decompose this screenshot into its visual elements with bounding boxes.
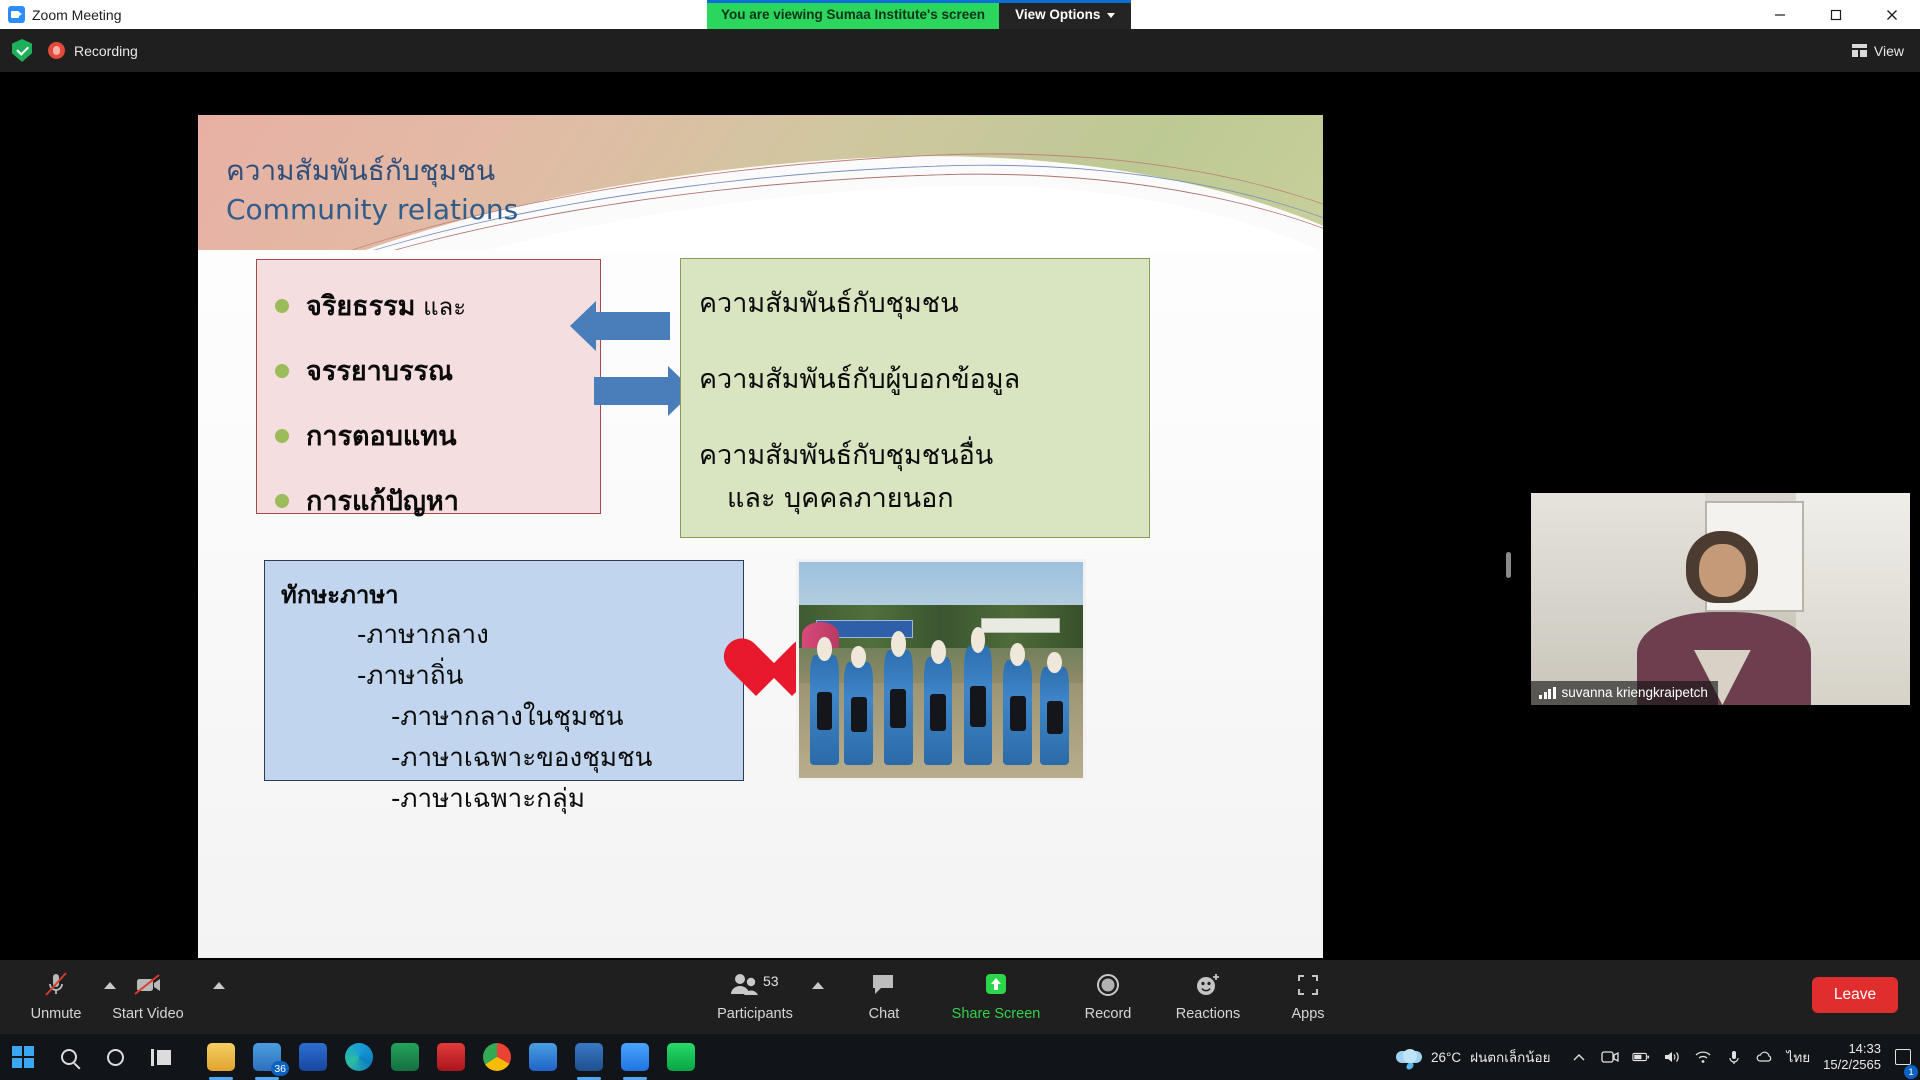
participant-video-thumbnail[interactable]: suvanna kriengkraipetch (1531, 493, 1910, 705)
bullet-label-2: จรรยาบรรณ (306, 349, 453, 392)
language-skills-heading: ทักษะภาษา (281, 575, 743, 614)
heart-icon (722, 640, 792, 704)
line-app-icon[interactable] (666, 1042, 696, 1072)
photo-figure (924, 657, 952, 765)
weather-temperature: 26°C (1431, 1050, 1461, 1065)
apps-label: Apps (1291, 1006, 1324, 1022)
green-line-2: ความสัมพันธ์กับผู้บอกข้อมูล (699, 357, 1149, 400)
mute-button-label: Unmute (31, 1006, 82, 1022)
language-line-4: -ภาษาเฉพาะของชุมชน (281, 737, 743, 778)
zoom-app-icon[interactable] (620, 1042, 650, 1072)
wifi-icon[interactable] (1694, 1048, 1712, 1066)
blue-app-icon[interactable] (298, 1042, 328, 1072)
microphone-tray-icon[interactable] (1725, 1048, 1743, 1066)
keyboard-language-indicator[interactable]: ไทย (1787, 1046, 1811, 1068)
chrome-icon[interactable] (482, 1042, 512, 1072)
record-indicator-icon[interactable] (48, 42, 65, 59)
photo-figure (884, 650, 912, 765)
language-skills-box: ทักษะภาษา -ภาษากลาง -ภาษาถิ่น -ภาษากลางใ… (264, 560, 744, 781)
language-line-2: -ภาษาถิ่น (281, 655, 743, 696)
maximize-button[interactable] (1808, 0, 1864, 29)
community-relations-box: ความสัมพันธ์กับชุมชน ความสัมพันธ์กับผู้บ… (680, 258, 1150, 538)
share-screen-button[interactable]: Share Screen (948, 968, 1044, 1022)
excel-icon[interactable] (390, 1042, 420, 1072)
cloud-sync-icon[interactable] (1756, 1048, 1774, 1066)
mute-button[interactable]: Unmute (8, 968, 104, 1022)
list-item: การตอบแทน (275, 414, 600, 457)
chevron-up-icon[interactable] (1570, 1048, 1588, 1066)
bullet-label-4: การแก้ปัญหา (306, 479, 459, 522)
adobe-reader-icon[interactable] (436, 1042, 466, 1072)
minimize-button[interactable] (1752, 0, 1808, 29)
clock-date: 15/2/2565 (1823, 1057, 1881, 1073)
shared-content-area: ความสัมพันธ์กับชุมชน Community relations… (12, 100, 1519, 958)
green-line-3: ความสัมพันธ์กับชุมชนอื่น (699, 433, 1149, 476)
green-line-1: ความสัมพันธ์กับชุมชน (699, 281, 1149, 324)
chat-button[interactable]: Chat (836, 968, 932, 1022)
view-layout-button[interactable]: View (1852, 43, 1904, 59)
bullet-label-1: จริยธรรม (306, 291, 415, 322)
bullet-dot-icon (275, 494, 289, 508)
arrow-right-icon (594, 377, 668, 405)
photo-figures (799, 640, 1083, 765)
view-options-label: View Options (1015, 7, 1100, 22)
clock-time: 14:33 (1823, 1041, 1881, 1057)
photo-figure (964, 646, 992, 765)
apps-bracket-icon (1294, 968, 1322, 1002)
chat-label: Chat (869, 1006, 900, 1022)
weather-condition: ฝนตกเล็กน้อย (1470, 1046, 1550, 1068)
photo-figure (1003, 660, 1031, 765)
community-procession-photo (796, 559, 1086, 781)
camera-tray-icon[interactable] (1601, 1048, 1619, 1066)
shared-screen-stage: ความสัมพันธ์กับชุมชน Community relations… (0, 72, 1920, 960)
svg-text:53: 53 (763, 973, 779, 989)
language-line-3: -ภาษากลางในชุมชน (281, 696, 743, 737)
language-line-5: -ภาษาเฉพาะกลุ่ม (281, 778, 743, 819)
green-line-4: และ บุคคลภายนอก (699, 476, 1149, 519)
video-wall-right (1796, 493, 1910, 705)
bullet-label-3: การตอบแทน (306, 414, 457, 457)
reactions-smiley-icon (1193, 968, 1223, 1002)
windows-taskbar: 36 26°C ฝนตกเล็กน้อย (0, 1034, 1920, 1080)
slide-title: ความสัมพันธ์กับชุมชน Community relations (226, 152, 518, 229)
presentation-slide: ความสัมพันธ์กับชุมชน Community relations… (198, 115, 1323, 958)
taskbar-icon-group: 36 (8, 1042, 696, 1072)
apps-button[interactable]: Apps (1260, 968, 1356, 1022)
camera-app-icon[interactable] (528, 1042, 558, 1072)
photo-figure (810, 655, 838, 765)
edge-icon[interactable] (344, 1042, 374, 1072)
battery-icon[interactable] (1632, 1048, 1650, 1066)
close-button[interactable] (1864, 0, 1920, 29)
file-explorer-icon[interactable] (206, 1042, 236, 1072)
screen-sharing-banner: You are viewing Sumaa Institute's screen… (707, 0, 1131, 29)
word-icon[interactable] (574, 1042, 604, 1072)
sharing-status-text: You are viewing Sumaa Institute's screen (707, 0, 999, 29)
language-line-1: -ภาษากลาง (281, 614, 743, 655)
video-options-chevron-up-icon[interactable] (213, 982, 225, 989)
reactions-label: Reactions (1176, 1006, 1240, 1022)
start-video-label: Start Video (112, 1006, 183, 1022)
window-title: Zoom Meeting (32, 7, 121, 23)
weather-widget[interactable]: 26°C ฝนตกเล็กน้อย (1396, 1046, 1551, 1068)
photo-figure (844, 662, 872, 765)
list-item: จริยธรรม และ (275, 284, 600, 327)
list-item: การแก้ปัญหา (275, 479, 600, 522)
slide-title-thai: ความสัมพันธ์กับชุมชน (226, 152, 518, 191)
volume-icon[interactable] (1663, 1048, 1681, 1066)
panel-drag-handle[interactable] (1506, 552, 1511, 578)
reactions-button[interactable]: Reactions (1160, 968, 1256, 1022)
photo-figure (1040, 667, 1068, 765)
bullet-dot-icon (275, 299, 289, 313)
task-view-icon[interactable] (146, 1042, 176, 1072)
view-options-button[interactable]: View Options (999, 0, 1131, 29)
notification-count: 1 (1904, 1065, 1918, 1079)
notification-icon[interactable]: 1 (1894, 1048, 1912, 1066)
list-item: จรรยาบรรณ (275, 349, 600, 392)
search-icon[interactable] (54, 1042, 84, 1072)
recording-status-label: Recording (74, 43, 138, 59)
share-screen-icon (981, 968, 1011, 1002)
shield-check-icon[interactable] (12, 39, 32, 62)
chevron-down-icon (1107, 13, 1115, 18)
taskbar-clock[interactable]: 14:33 15/2/2565 (1823, 1041, 1881, 1074)
record-label: Record (1085, 1006, 1132, 1022)
banner-accent-line (707, 0, 1131, 3)
participant-name-label: suvanna kriengkraipetch (1562, 685, 1708, 700)
zoom-meeting-header: Recording View (0, 29, 1920, 72)
mail-badge: 36 (271, 1061, 289, 1076)
participants-label: Participants (717, 1006, 793, 1022)
chat-bubble-icon (870, 968, 898, 1002)
participant-name-badge: suvanna kriengkraipetch (1531, 681, 1718, 705)
microphone-muted-icon (41, 968, 71, 1002)
mail-icon[interactable]: 36 (252, 1042, 282, 1072)
signal-bars-icon (1539, 687, 1556, 699)
camera-off-icon (132, 968, 164, 1002)
cortana-circle-icon[interactable] (100, 1042, 130, 1072)
record-button[interactable]: Record (1060, 968, 1156, 1022)
zoom-control-bar: Unmute Start Video 53 Participants (0, 960, 1920, 1034)
ethics-bullet-box: จริยธรรม และ จรรยาบรรณ การตอบแทน การแก้ป… (256, 259, 601, 514)
bullet-dot-icon (275, 429, 289, 443)
start-video-button[interactable]: Start Video (100, 968, 196, 1022)
zoom-logo-icon (8, 6, 25, 23)
bullet-suffix-1: และ (415, 293, 466, 321)
photo-white-banner (981, 618, 1061, 633)
participants-icon: 53 (727, 968, 783, 1002)
share-screen-label: Share Screen (952, 1006, 1041, 1022)
view-label: View (1874, 43, 1904, 59)
avatar-face (1699, 544, 1746, 597)
leave-button[interactable]: Leave (1812, 977, 1898, 1013)
participants-button[interactable]: 53 Participants (707, 968, 803, 1022)
participants-chevron-up-icon[interactable] (812, 982, 824, 989)
bullet-dot-icon (275, 364, 289, 378)
window-controls (1752, 0, 1920, 29)
windows-start-icon[interactable] (8, 1042, 38, 1072)
arrow-left-icon (596, 312, 670, 340)
window-title-bar: Zoom Meeting You are viewing Sumaa Insti… (0, 0, 1920, 29)
view-layout-icon (1852, 44, 1867, 57)
system-tray: 26°C ฝนตกเล็กน้อย ไทย 14:33 15/2/2565 (1396, 1041, 1912, 1074)
rain-cloud-icon (1396, 1049, 1422, 1066)
slide-title-english: Community relations (226, 191, 518, 230)
record-circle-icon (1094, 968, 1122, 1002)
